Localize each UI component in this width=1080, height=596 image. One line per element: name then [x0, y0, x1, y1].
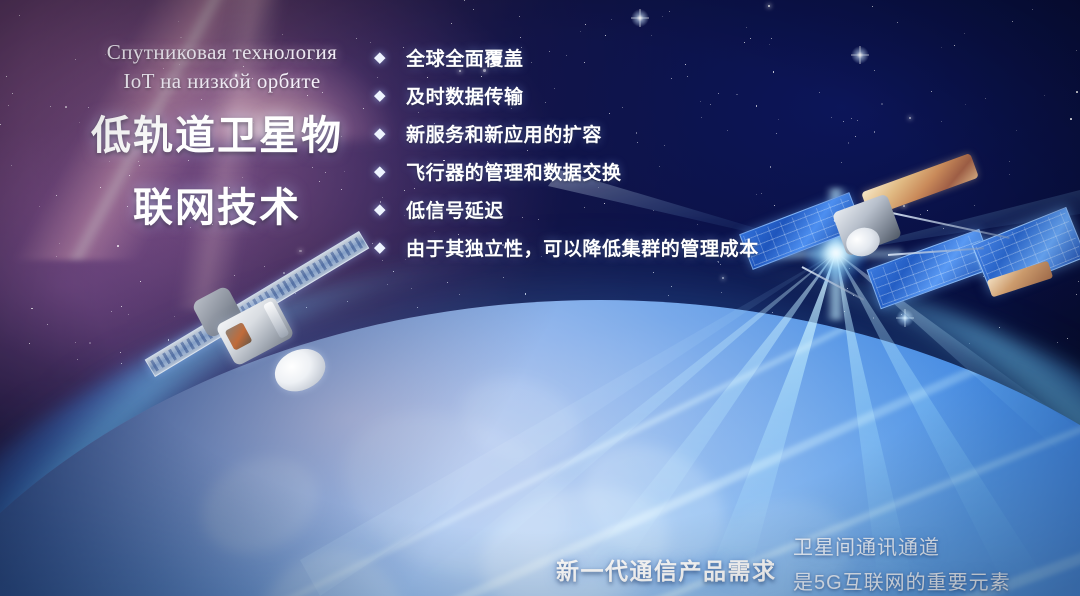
diamond-bullet-icon: ◆	[374, 200, 396, 218]
diamond-bullet-icon: ◆	[374, 162, 396, 180]
diamond-bullet-icon: ◆	[374, 124, 396, 142]
right-satellite-boom-4	[802, 266, 865, 301]
caption-right-line1: 卫星间通讯通道	[793, 531, 1011, 566]
caption-right: 卫星间通讯通道 是5G互联网的重要元素	[793, 531, 1011, 596]
list-item: ◆及时数据传输	[374, 78, 934, 112]
diamond-bullet-icon: ◆	[374, 238, 396, 256]
caption-left: 新一代通信产品需求	[556, 552, 777, 586]
list-item-label: 全球全面覆盖	[406, 44, 524, 71]
russian-subtitle: Спутниковая технология IoT на низкой орб…	[72, 38, 372, 96]
page-title-line1: 低轨道卫星物	[91, 114, 343, 158]
list-item-label: 及时数据传输	[406, 82, 524, 109]
list-item-label: 低信号延迟	[406, 196, 504, 223]
left-satellite-dish	[268, 341, 332, 399]
list-item: ◆由于其独立性，可以降低集群的管理成本	[374, 230, 934, 264]
page-title: 低轨道卫星物 联网技术	[62, 100, 372, 244]
diamond-bullet-icon: ◆	[374, 48, 396, 66]
list-item: ◆全球全面覆盖	[374, 40, 934, 74]
slide-canvas: Спутниковая технология IoT на низкой орб…	[0, 0, 1080, 596]
list-item: ◆低信号延迟	[374, 192, 934, 226]
left-satellite-icon	[150, 222, 380, 392]
list-item-label: 飞行器的管理和数据交换	[406, 158, 622, 185]
feature-bullet-list: ◆全球全面覆盖◆及时数据传输◆新服务和新应用的扩容◆飞行器的管理和数据交换◆低信…	[374, 40, 934, 268]
page-title-line2: 联网技术	[62, 172, 372, 244]
russian-subtitle-line2: IoT на низкой орбите	[72, 67, 372, 96]
caption-right-line2: 是5G互联网的重要元素	[793, 566, 1011, 596]
list-item-label: 新服务和新应用的扩容	[406, 120, 602, 147]
diamond-bullet-icon: ◆	[374, 86, 396, 104]
list-item: ◆飞行器的管理和数据交换	[374, 154, 934, 188]
list-item-label: 由于其独立性，可以降低集群的管理成本	[406, 234, 759, 261]
russian-subtitle-line1: Спутниковая технология	[72, 38, 372, 67]
list-item: ◆新服务和新应用的扩容	[374, 116, 934, 150]
